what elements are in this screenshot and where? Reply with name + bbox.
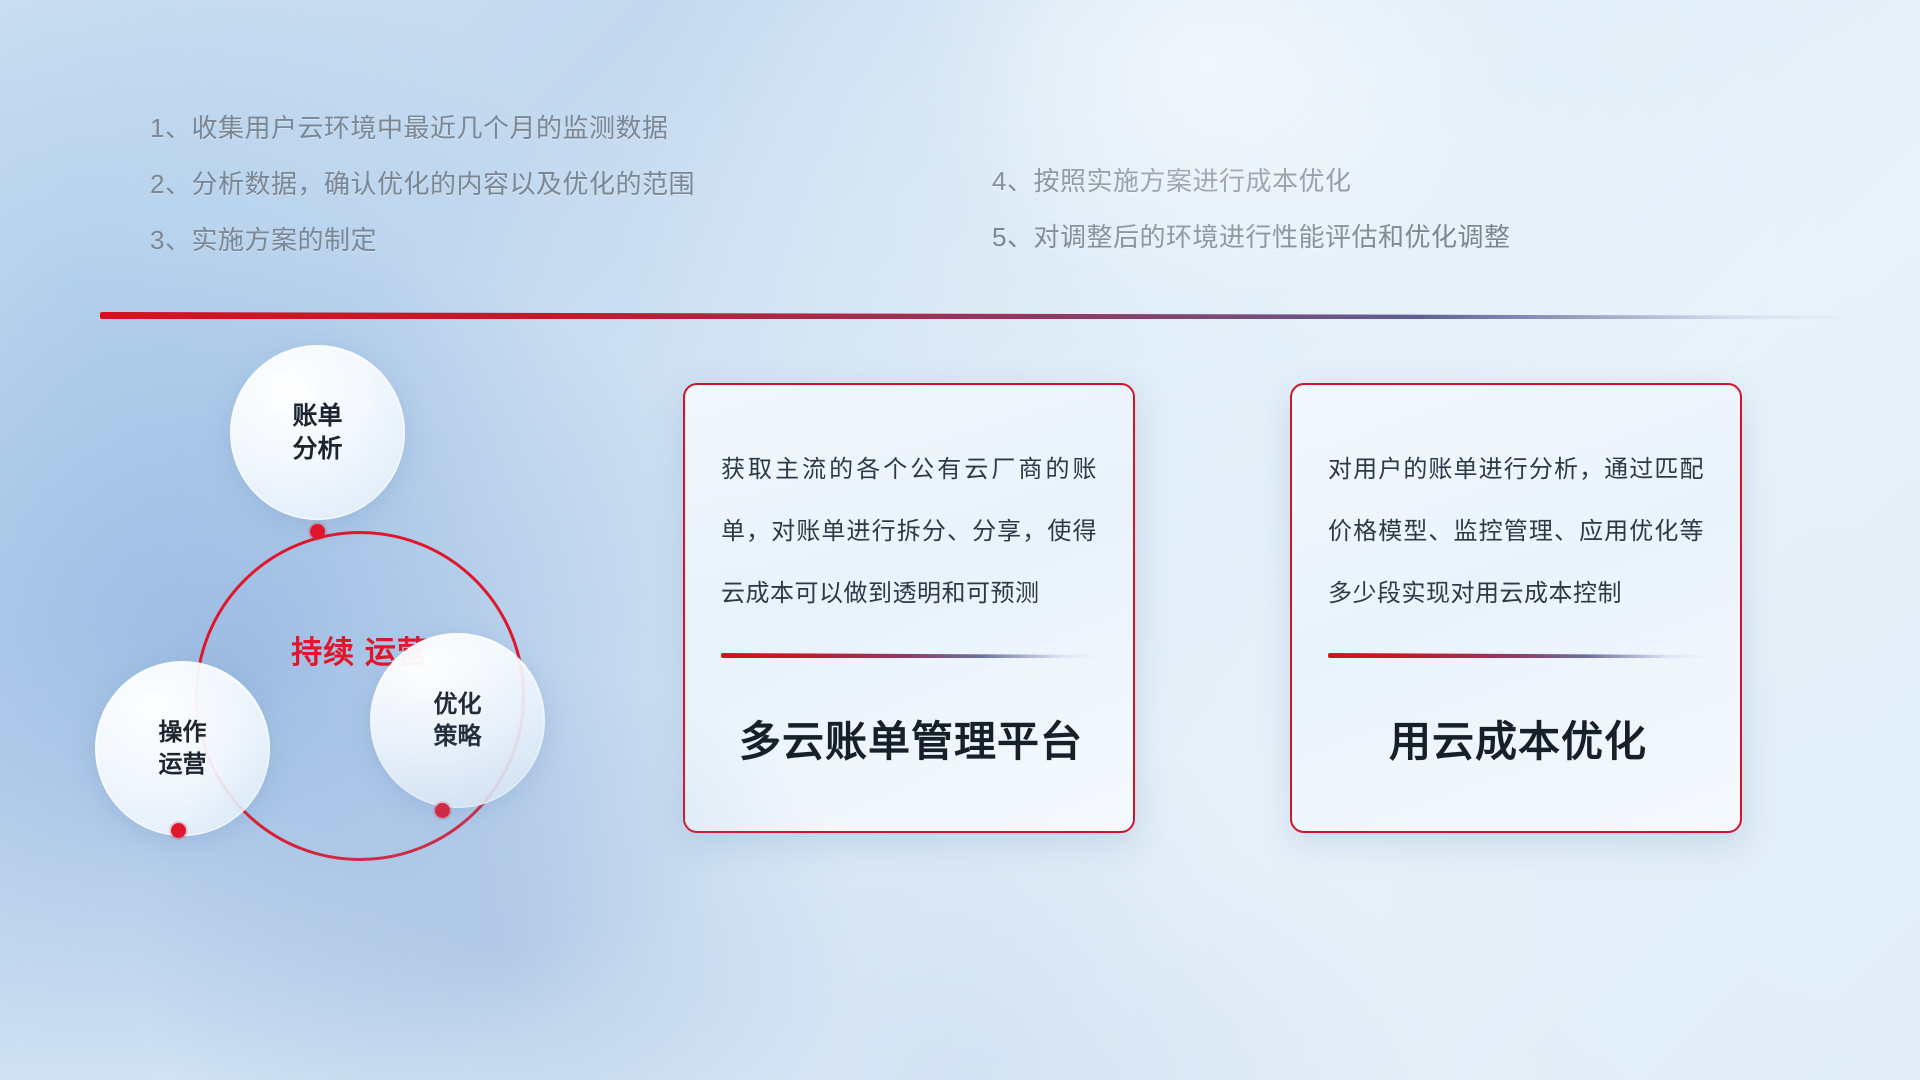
node-dot-icon <box>435 803 450 818</box>
card-multicloud-billing-platform[interactable]: 获取主流的各个公有云厂商的账单，对账单进行拆分、分享，使得云成本可以做到透明和可… <box>683 383 1135 833</box>
card-divider <box>1328 653 1708 658</box>
bubble-label-line-1: 操作 <box>159 717 207 749</box>
card-divider <box>721 653 1101 658</box>
bubble-label-line-2: 运营 <box>159 749 207 781</box>
card-body-text: 获取主流的各个公有云厂商的账单，对账单进行拆分、分享，使得云成本可以做到透明和可… <box>721 439 1097 625</box>
list-item: 2、分析数据，确认优化的内容以及优化的范围 <box>150 156 695 212</box>
continuous-operation-diagram: 持续 运营 账单 分析 操作 运营 优化 策略 <box>95 355 615 935</box>
bubble-label-line-1: 优化 <box>434 689 482 721</box>
node-dot-icon <box>310 524 325 539</box>
card-cloud-cost-optimization[interactable]: 对用户的账单进行分析，通过匹配价格模型、监控管理、应用优化等多少段实现对用云成本… <box>1290 383 1742 833</box>
steps-right-column: 4、按照实施方案进行成本优化 5、对调整后的环境进行性能评估和优化调整 <box>992 153 1510 265</box>
list-item: 3、实施方案的制定 <box>150 212 695 268</box>
list-item: 4、按照实施方案进行成本优化 <box>992 153 1510 209</box>
node-dot-icon <box>171 823 186 838</box>
bubble-label-line-1: 账单 <box>292 400 342 433</box>
center-label-line-1: 持续 <box>291 635 355 670</box>
bubble-label-line-2: 分析 <box>292 433 342 466</box>
bubble-bill-analysis[interactable]: 账单 分析 <box>230 345 405 520</box>
list-item: 5、对调整后的环境进行性能评估和优化调整 <box>992 209 1510 265</box>
list-item: 1、收集用户云环境中最近几个月的监测数据 <box>150 100 695 156</box>
card-body-text: 对用户的账单进行分析，通过匹配价格模型、监控管理、应用优化等多少段实现对用云成本… <box>1328 439 1704 625</box>
card-title: 用云成本优化 <box>1328 708 1708 769</box>
bubble-optimization-strategy[interactable]: 优化 策略 <box>370 633 545 808</box>
bubble-operations[interactable]: 操作 运营 <box>95 661 270 836</box>
steps-left-column: 1、收集用户云环境中最近几个月的监测数据 2、分析数据，确认优化的内容以及优化的… <box>150 100 695 268</box>
slide-canvas: 1、收集用户云环境中最近几个月的监测数据 2、分析数据，确认优化的内容以及优化的… <box>0 0 1920 1080</box>
bubble-label-line-2: 策略 <box>434 721 482 753</box>
section-divider <box>100 312 1860 319</box>
card-title: 多云账单管理平台 <box>721 708 1101 769</box>
